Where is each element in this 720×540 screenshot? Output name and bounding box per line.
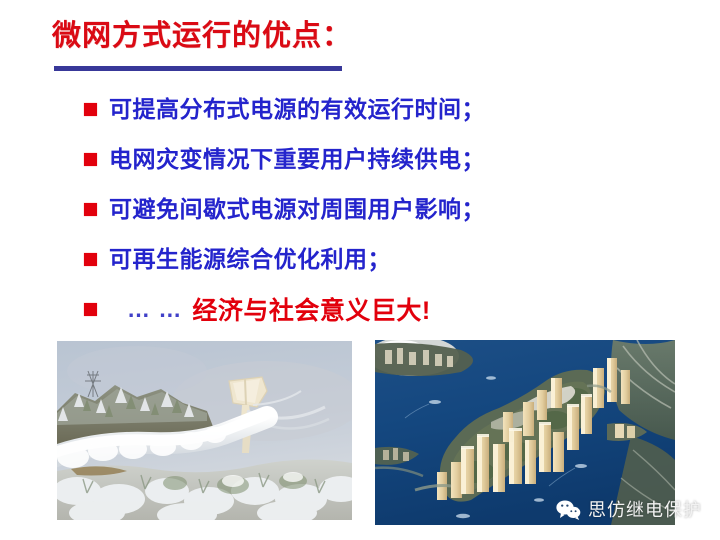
list-item-emphasis: … … 经济与社会意义巨大! [84, 284, 664, 334]
watermark: 思仿继电保护 [556, 496, 702, 522]
list-item-label: 电网灾变情况下重要用户持续供电； [109, 145, 485, 173]
ice-covered-transmission-line-photo [57, 341, 352, 520]
list-item: 可提高分布式电源的有效运行时间； [84, 84, 664, 134]
title-block: 微网方式运行的优点： [52, 18, 652, 54]
ice-photo-graphic [57, 341, 352, 520]
wechat-icon-graphic [556, 499, 581, 520]
emphasis-text: 经济与社会意义巨大! [192, 291, 430, 327]
watermark-text: 思仿继电保护 [588, 496, 702, 522]
bullet-list: 可提高分布式电源的有效运行时间； 电网灾变情况下重要用户持续供电； 可避免间歇式… [84, 84, 664, 334]
red-square-bullet-icon [84, 153, 97, 166]
red-square-bullet-icon [84, 303, 97, 316]
title-underline [54, 66, 342, 71]
list-item-label: 可避免间歇式电源对周围用户影响； [109, 195, 485, 223]
wechat-icon [556, 499, 581, 520]
list-item: 电网灾变情况下重要用户持续供电； [84, 134, 664, 184]
list-item: 可避免间歇式电源对周围用户影响； [84, 184, 664, 234]
page-title: 微网方式运行的优点： [52, 18, 652, 54]
slide-canvas: 微网方式运行的优点： 可提高分布式电源的有效运行时间； 电网灾变情况下重要用户持… [0, 0, 720, 540]
list-item-label: 可提高分布式电源的有效运行时间； [109, 95, 485, 123]
ellipsis-text: … … [127, 296, 182, 323]
list-item: 可再生能源综合优化利用； [84, 234, 664, 284]
red-square-bullet-icon [84, 253, 97, 266]
red-square-bullet-icon [84, 103, 97, 116]
red-square-bullet-icon [84, 203, 97, 216]
list-item-label: 可再生能源综合优化利用； [109, 245, 391, 273]
